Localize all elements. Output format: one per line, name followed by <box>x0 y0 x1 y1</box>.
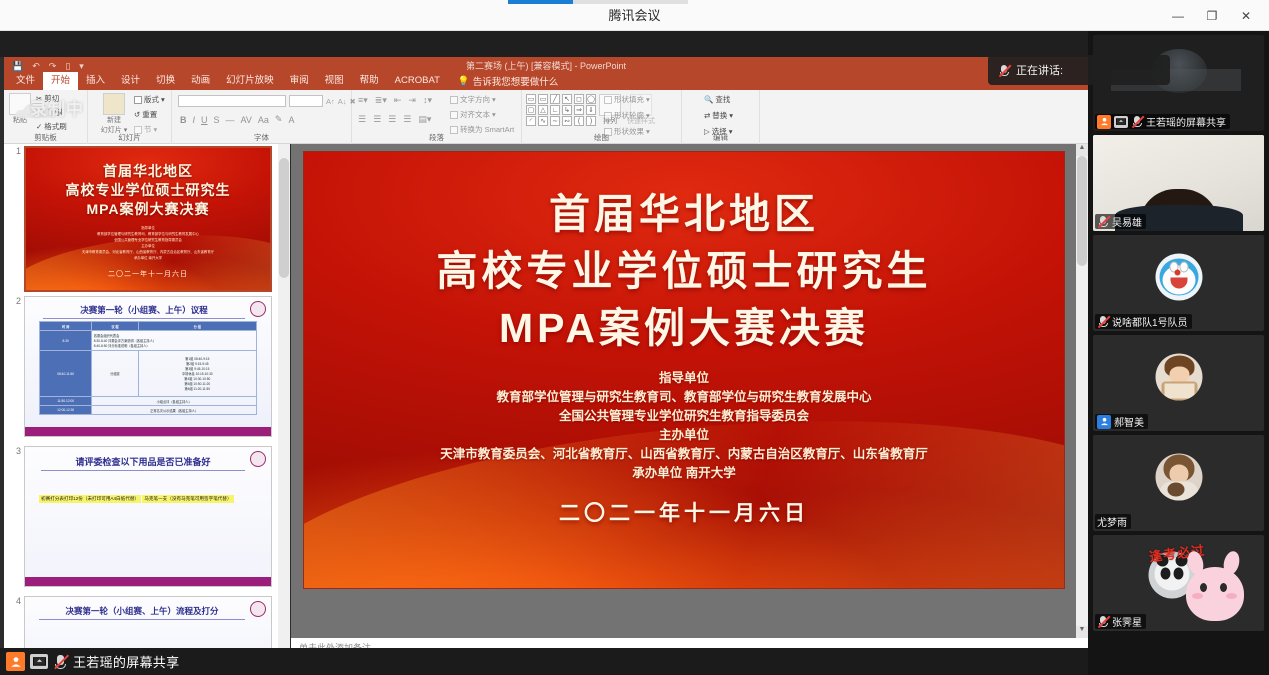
line-spacing-icon[interactable]: ↕▾ <box>423 95 432 106</box>
character-spacing-icon[interactable]: AV <box>241 115 252 125</box>
ribbon-group-paragraph: ≡▾ ≣▾ ⇤ ⇥ ↕▾ ☰ ☰ ☰ ☰ ▤▾ 文字方向 ▾ 对齐文本 ▾ 转换… <box>352 90 522 144</box>
current-slide[interactable]: 首届华北地区 高校专业学位硕士研究生 MPA案例大赛决赛 指导单位 教育部学位管… <box>303 151 1065 589</box>
thumb1-sec3-heading: 承办单位 南开大学 <box>26 255 270 261</box>
shape-wave-icon[interactable]: ∾ <box>562 116 572 126</box>
participant-name-row-3: 说啥都队1号队员 <box>1095 314 1192 329</box>
thumb2-r0c0: 8:30 <box>40 331 92 351</box>
thumb2-r1c2: 第1组 08:40-9:15 第2组 9:15-9:45 第3组 9:45-10… <box>138 351 256 397</box>
slide-guidance-line-1: 教育部学位管理与研究生教育司、教育部学位与研究生教育发展中心 <box>304 388 1064 407</box>
tell-me-box[interactable]: 💡 告诉我您想要做什么 <box>448 74 558 88</box>
group-label-clipboard: 剪贴板 <box>4 132 87 143</box>
group-label-font: 字体 <box>172 132 351 143</box>
participant-tile-avatar-woman[interactable]: 尤梦雨 <box>1093 435 1264 531</box>
strikethrough-icon[interactable]: — <box>226 115 235 125</box>
ribbon-group-drawing: ▭ ▭ ╱ ↖ ◻ ◯ ▢ △ ∟ ↳ ⇒ ⇓ ◜ ∿ ∼ ∾ ( <box>522 90 682 144</box>
shape-brace-right-icon[interactable]: ) <box>586 116 596 126</box>
thumb2-footer-bar <box>25 427 271 436</box>
shape-arrow-right-icon[interactable]: ⇒ <box>574 105 584 115</box>
screen-share-taskbar[interactable]: 王若瑶的屏幕共享 <box>0 648 1088 675</box>
scroll-down-icon[interactable]: ▼ <box>1076 626 1088 638</box>
decrease-font-icon[interactable]: A↓ <box>338 97 347 106</box>
thumb2-seal-icon <box>250 301 266 317</box>
italic-icon[interactable]: I <box>193 115 196 125</box>
align-text-button[interactable]: 对齐文本 ▾ <box>450 109 514 120</box>
shape-rect2-icon[interactable]: ▭ <box>538 94 548 104</box>
shape-square-icon[interactable]: ◻ <box>574 94 584 104</box>
thumb3-seal-icon <box>250 451 266 467</box>
thumb2-title: 决赛第一轮（小组赛、上午）议程 <box>43 304 245 319</box>
replace-button[interactable]: ⇄替换 ▾ <box>704 110 733 121</box>
screen-share-badge-icon <box>1114 116 1128 128</box>
thumbnail-number-3: 3 <box>7 446 21 456</box>
thumbnail-slide-4[interactable]: 决赛第一轮（小组赛、上午）流程及打分 <box>24 596 272 648</box>
host-badge-icon <box>1097 115 1111 129</box>
align-left-icon[interactable]: ☰ <box>358 114 366 125</box>
format-painter-button[interactable]: ✓格式刷 <box>36 121 67 132</box>
slide-thumbnail-pane[interactable]: 1 首届华北地区 高校专业学位硕士研究生 MPA案例大赛决赛 指导单位 <box>4 144 290 648</box>
participant-name-row-5: 尤梦雨 <box>1095 514 1131 529</box>
thumb2-th-0: 时 间 <box>40 322 92 331</box>
numbering-icon[interactable]: ≣▾ <box>375 95 387 106</box>
tab-slideshow[interactable]: 幻灯片放映 <box>218 72 282 90</box>
mic-muted-icon <box>1097 615 1109 628</box>
shape-curve-icon[interactable]: ∼ <box>550 116 560 126</box>
group-label-slides: 幻灯片 <box>88 132 171 143</box>
slide-title-line-2: 高校专业学位硕士研究生 <box>304 243 1064 300</box>
participant-tile-video[interactable]: 吴易雄 <box>1093 135 1264 231</box>
font-name-input[interactable] <box>178 95 286 107</box>
replace-icon: ⇄ <box>704 111 710 120</box>
strip-bottom-filler <box>1088 648 1269 675</box>
avatar <box>1155 454 1202 501</box>
font-size-input[interactable] <box>289 95 323 107</box>
avatar <box>1155 254 1202 301</box>
tab-help[interactable]: 帮助 <box>352 72 387 90</box>
participant-name-row-6: 张霁星 <box>1095 614 1146 629</box>
shape-brace-left-icon[interactable]: ( <box>574 116 584 126</box>
thumb2-r1c1: 分组赛 <box>92 351 138 397</box>
shape-rect-icon[interactable]: ▭ <box>526 94 536 104</box>
avatar <box>1155 354 1202 401</box>
mic-muted-icon <box>1097 215 1109 228</box>
shape-gallery[interactable]: ▭ ▭ ╱ ↖ ◻ ◯ ▢ △ ∟ ↳ ⇒ ⇓ ◜ ∿ ∼ ∾ ( <box>526 94 597 126</box>
ppt-document-title: 第二赛场 (上午) [兼容模式] - PowerPoint <box>4 59 1088 72</box>
thumb3-item-2: 马克笔一支（没有马克笔可用签字笔代替） <box>142 495 233 503</box>
mic-muted-icon <box>1097 315 1109 328</box>
align-text-icon <box>450 111 458 119</box>
shape-triangle-icon[interactable]: △ <box>538 105 548 115</box>
host-badge-icon <box>6 652 25 671</box>
slide-editing-stage[interactable]: 首届华北地区 高校专业学位硕士研究生 MPA案例大赛决赛 指导单位 教育部学位管… <box>291 144 1088 638</box>
shape-fill-icon <box>604 96 612 104</box>
shape-effects-button[interactable]: 形状效果 ▾ <box>604 126 650 137</box>
reset-button[interactable]: ↺重置 <box>134 109 165 120</box>
slide-guidance-heading: 指导单位 <box>304 369 1064 388</box>
ribbon-group-slides: 新建幻灯片 ▾ 版式 ▾ ↺重置 节 ▾ 幻灯片 <box>88 90 172 144</box>
slide-title-line-1: 首届华北地区 <box>304 186 1064 243</box>
window-controls: — ❐ ✕ <box>1161 0 1263 31</box>
thumb1-title-line2: 高校专业学位硕士研究生 <box>26 181 270 200</box>
text-direction-icon <box>450 96 458 104</box>
shape-arrow-down-icon[interactable]: ⇓ <box>586 105 596 115</box>
shape-oval-icon[interactable]: ◯ <box>586 94 596 104</box>
thumbnail-scrollbar-thumb[interactable] <box>279 158 289 278</box>
layout-button[interactable]: 版式 ▾ <box>134 94 165 105</box>
participant-name-row-1: 王若瑶的屏幕共享 <box>1095 114 1230 129</box>
screen-share-label: 王若瑶的屏幕共享 <box>73 652 179 671</box>
speaking-toast: 正在讲话: <box>988 55 1170 85</box>
shape-outline-icon <box>604 112 612 120</box>
thumb2-r1c0: 08:40-11:50 <box>40 351 92 397</box>
slide-title-line-3: MPA案例大赛决赛 <box>304 300 1064 357</box>
host-badge-icon <box>1097 415 1111 429</box>
thumb4-title: 决赛第一轮（小组赛、上午）流程及打分 <box>39 605 245 620</box>
mic-muted-icon <box>53 654 68 670</box>
tab-home[interactable]: 开始 <box>43 72 78 90</box>
shape-fill-button[interactable]: 形状填充 ▾ <box>604 94 650 105</box>
mic-muted-icon <box>1131 115 1143 128</box>
columns-icon[interactable]: ▤▾ <box>418 114 431 125</box>
ppt-ribbon-header: 💾 ↶ ↷ ▯ ▾ 第二赛场 (上午) [兼容模式] - PowerPoint … <box>4 57 1088 90</box>
notes-pane[interactable]: 单击此处添加备注 <box>291 638 1088 648</box>
thumb3-item-1: 初赛打分表打印12份（未打印可用A4白纸代替） <box>39 495 141 503</box>
tell-me-label: 告诉我您想要做什么 <box>473 74 559 88</box>
tab-insert[interactable]: 插入 <box>78 72 113 90</box>
ribbon-group-editing: 🔍查找 ⇄替换 ▾ ▷选择 ▾ 编辑 <box>682 90 760 144</box>
screen-share-badge-icon <box>30 654 48 669</box>
thumb2-r3c1: 正常名次公示结果（各组主持人） <box>92 406 257 415</box>
shape-arrow-icon[interactable]: ↖ <box>562 94 572 104</box>
bullets-icon[interactable]: ≡▾ <box>358 95 368 106</box>
shape-rounded-icon[interactable]: ▢ <box>526 105 536 115</box>
reset-icon: ↺ <box>134 110 140 119</box>
participant-name-row-4: 郝智美 <box>1095 414 1148 429</box>
search-icon: 🔍 <box>704 95 713 104</box>
shadow-icon[interactable]: S <box>214 115 220 125</box>
group-label-drawing: 绘图 <box>522 132 681 143</box>
bunny-sticker-icon <box>1172 549 1258 627</box>
participant-name: 张霁星 <box>1112 614 1142 629</box>
speaking-label: 正在讲话: <box>1016 62 1063 78</box>
app-title: 腾讯会议 <box>0 0 1269 31</box>
tab-view[interactable]: 视图 <box>317 72 352 90</box>
slide-stage-scrollbar-thumb[interactable] <box>1077 156 1087 266</box>
find-button[interactable]: 🔍查找 <box>704 94 733 105</box>
participant-name: 郝智美 <box>1114 414 1144 429</box>
thumbnail-scrollbar[interactable] <box>278 144 290 648</box>
slide-host-heading: 承办单位 南开大学 <box>304 464 1064 483</box>
group-label-editing: 编辑 <box>682 132 759 143</box>
new-slide-button[interactable] <box>103 93 125 115</box>
app-titlebar: 腾讯会议 — ❐ ✕ <box>0 0 1269 31</box>
thumb2-r2c1: 小组点评（各组主持人） <box>92 397 257 406</box>
shape-bent-icon[interactable]: ∟ <box>550 105 560 115</box>
participant-tile-avatar-panda[interactable]: 逢考必过 张霁星 <box>1093 535 1264 631</box>
participant-name: 王若瑶的屏幕共享 <box>1146 114 1226 129</box>
thumb2-th-1: 议 程 <box>92 322 138 331</box>
underline-icon[interactable]: U <box>201 115 208 125</box>
brush-icon: ✓ <box>36 122 42 131</box>
thumbnail-number-2: 2 <box>7 296 21 306</box>
tab-design[interactable]: 设计 <box>113 72 148 90</box>
thumbnail-slide-3[interactable]: 请评委检查以下用品是否已准备好 初赛打分表打印12份（未打印可用A4白纸代替） … <box>24 446 272 587</box>
thumb3-footer-bar <box>25 577 271 586</box>
tab-file[interactable]: 文件 <box>8 72 43 90</box>
text-direction-button[interactable]: 文字方向 ▾ <box>450 94 514 105</box>
scroll-up-icon[interactable]: ▲ <box>1076 144 1088 156</box>
lightbulb-icon: 💡 <box>458 76 470 87</box>
participant-name: 吴易雄 <box>1112 214 1142 229</box>
shape-outline-button[interactable]: 形状轮廓 ▾ <box>604 110 650 121</box>
close-icon[interactable]: ✕ <box>1229 0 1263 31</box>
justify-icon[interactable]: ☰ <box>403 114 411 125</box>
tab-animations[interactable]: 动画 <box>183 72 218 90</box>
screen-top-strip <box>0 31 1088 57</box>
thumb3-title: 请评委检查以下用品是否已准备好 <box>41 455 245 471</box>
bold-icon[interactable]: B <box>180 115 187 125</box>
tab-review[interactable]: 审阅 <box>282 72 317 90</box>
ppt-ribbon-body: 粘贴 ✂剪切 📋复制 ✓格式刷 剪贴板 新建幻灯片 ▾ 版式 ▾ ↺重置 节 ▾ <box>4 90 1088 144</box>
shape-elbow-icon[interactable]: ↳ <box>562 105 572 115</box>
scissors-icon: ✂ <box>36 94 42 103</box>
ribbon-group-font: A↑ A↓ ✖ B I U S — AV Aa ✎ A 字体 <box>172 90 352 144</box>
thumbnail-slide-1[interactable]: 首届华北地区 高校专业学位硕士研究生 MPA案例大赛决赛 指导单位 教育部学位管… <box>24 146 272 292</box>
shape-arc-icon[interactable]: ◜ <box>526 116 536 126</box>
shape-effect-list: 形状填充 ▾ 形状轮廓 ▾ 形状效果 ▾ <box>604 94 650 137</box>
slide-date: 二〇二一年十一月六日 <box>304 497 1064 527</box>
participant-video-strip[interactable]: 王若瑶的屏幕共享 吴易雄 说啥都队 <box>1088 31 1269 648</box>
thumbnail-number-1: 1 <box>7 146 21 156</box>
thumb1-title-line3: MPA案例大赛决赛 <box>26 200 270 219</box>
recording-cloud-icon <box>22 103 50 118</box>
thumb1-title-line1: 首届华北地区 <box>26 162 270 181</box>
participant-name: 说啥都队1号队员 <box>1112 314 1188 329</box>
participant-name-row-2: 吴易雄 <box>1095 214 1146 229</box>
shape-line-icon[interactable]: ╱ <box>550 94 560 104</box>
thumb2-r3c0: 12:00-12:30 <box>40 406 92 415</box>
shape-effects-icon <box>604 128 612 136</box>
group-label-paragraph: 段落 <box>352 132 521 143</box>
decrease-indent-icon[interactable]: ⇤ <box>394 95 402 106</box>
increase-indent-icon[interactable]: ⇥ <box>408 95 416 106</box>
thumb2-th-2: 分 组 <box>138 322 256 331</box>
font-color-icon[interactable]: A <box>288 115 294 125</box>
participant-name: 尤梦雨 <box>1097 514 1127 529</box>
thumb2-r2c0: 11:50-12:00 <box>40 397 92 406</box>
align-right-icon[interactable]: ☰ <box>388 114 396 125</box>
ribbon-tabs: 文件 开始 插入 设计 切换 动画 幻灯片放映 审阅 视图 帮助 ACROBAT… <box>8 72 558 90</box>
shared-screen-powerpoint: 💾 ↶ ↷ ▯ ▾ 第二赛场 (上午) [兼容模式] - PowerPoint … <box>0 31 1088 648</box>
mic-muted-icon <box>998 64 1010 77</box>
increase-font-icon[interactable]: A↑ <box>326 97 335 106</box>
shape-freeform-icon[interactable]: ∿ <box>538 116 548 126</box>
slide-organizer-heading: 主办单位 <box>304 426 1064 445</box>
participant-tile-avatar-doraemon[interactable]: 说啥都队1号队员 <box>1093 235 1264 331</box>
slide-guidance-line-2: 全国公共管理专业学位研究生教育指导委员会 <box>304 407 1064 426</box>
maximize-icon[interactable]: ❐ <box>1195 0 1229 31</box>
change-case-icon[interactable]: Aa <box>258 115 269 125</box>
tab-acrobat[interactable]: ACROBAT <box>387 72 448 90</box>
participant-tile-avatar-reading[interactable]: 郝智美 <box>1093 335 1264 431</box>
slide-stage-scrollbar[interactable]: ▲ ▼ <box>1076 144 1088 638</box>
thumbnail-slide-2[interactable]: 决赛第一轮（小组赛、上午）议程 时 间 议 程 分 组 8:30 <box>24 296 272 437</box>
thumb4-seal-icon <box>250 601 266 617</box>
tab-transitions[interactable]: 切换 <box>148 72 183 90</box>
slide-organizer-line-1: 天津市教育委员会、河北省教育厅、山西省教育厅、内蒙古自治区教育厅、山东省教育厅 <box>304 445 1064 464</box>
text-highlight-icon[interactable]: ✎ <box>275 114 283 125</box>
thumbnail-number-4: 4 <box>7 596 21 606</box>
thumb2-r0c1: 赛委会组织代表会 8:30-8:40 评委会评方案说明（各组主持人） 8:40-… <box>92 331 257 351</box>
layout-icon <box>134 96 142 104</box>
minimize-icon[interactable]: — <box>1161 0 1195 31</box>
thumb1-date: 二〇二一年十一月六日 <box>26 269 270 279</box>
align-center-icon[interactable]: ☰ <box>373 114 381 125</box>
